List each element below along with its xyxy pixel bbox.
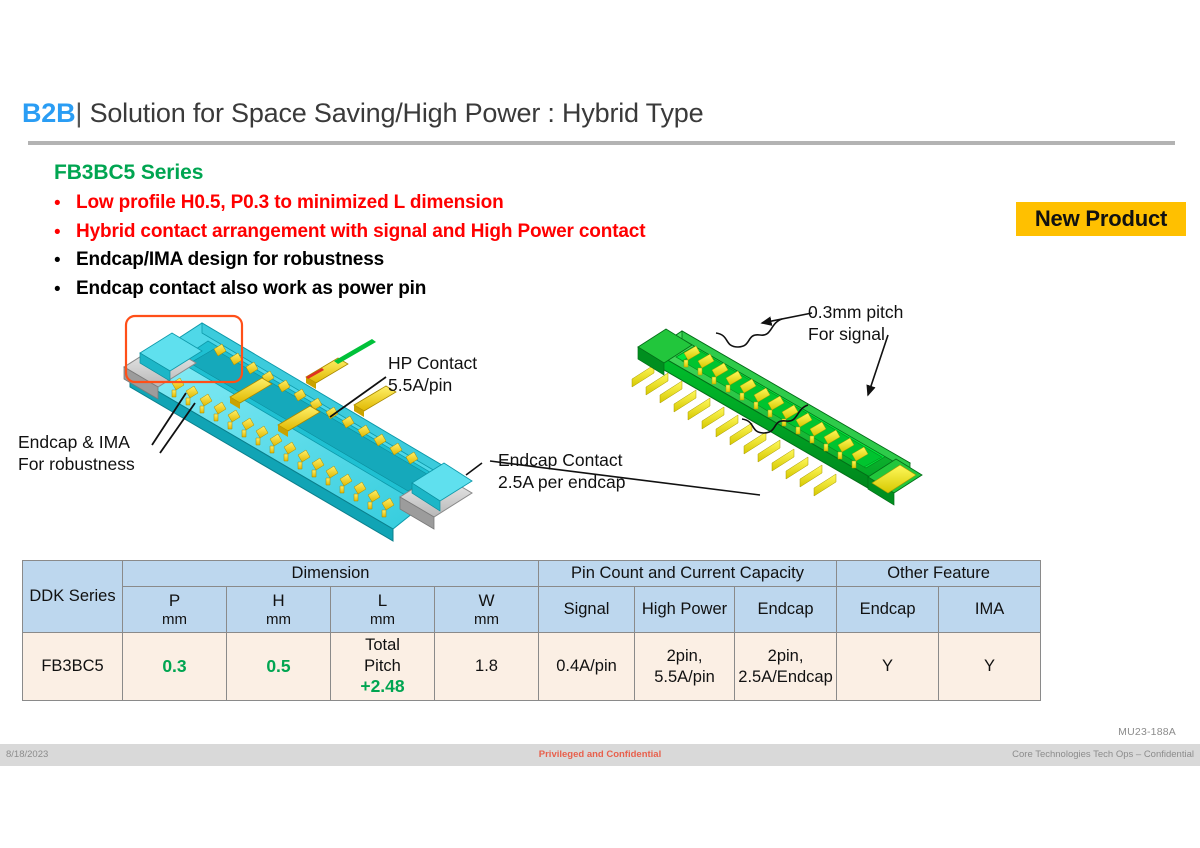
cell-w: 1.8 xyxy=(435,633,539,701)
callout-endcap-ima-line2: For robustness xyxy=(18,453,135,475)
callout-endcap-contact-line2: 2.5A per endcap xyxy=(498,471,625,493)
col-h: H mm xyxy=(227,587,331,633)
col-ddk-series: DDK Series xyxy=(23,561,123,633)
slide-header: B2B| Solution for Space Saving/High Powe… xyxy=(0,98,1200,146)
cell-signal: 0.4A/pin xyxy=(539,633,635,701)
cell-endcap-pin: 2pin, 2.5A/Endcap xyxy=(735,633,837,701)
leader-line-hp-contact xyxy=(330,377,386,417)
col-signal: Signal xyxy=(539,587,635,633)
series-block: FB3BC5 Series • Low profile H0.5, P0.3 t… xyxy=(54,160,874,306)
col-p: P mm xyxy=(123,587,227,633)
callout-hp-contact-line1: HP Contact xyxy=(388,352,477,374)
bullet-text: Hybrid contact arrangement with signal a… xyxy=(76,220,645,244)
table-sub-header-row: P mm H mm L mm W mm Signal High Power En… xyxy=(23,587,1041,633)
cell-series: FB3BC5 xyxy=(23,633,123,701)
callout-endcap-ima-line1: Endcap & IMA xyxy=(18,431,135,453)
cell-h: 0.5 xyxy=(227,633,331,701)
col-group-pin-count: Pin Count and Current Capacity xyxy=(539,561,837,587)
cell-ima: Y xyxy=(939,633,1041,701)
cell-l: Total Pitch+2.48 xyxy=(331,633,435,701)
bullet-marker-icon: • xyxy=(54,248,76,274)
bullet-marker-icon: • xyxy=(54,191,76,217)
document-code: MU23-188A xyxy=(1118,726,1176,738)
bullet-text: Low profile H0.5, P0.3 to minimized L di… xyxy=(76,191,504,215)
leader-line-hp xyxy=(152,393,186,445)
col-endcap-pin: Endcap xyxy=(735,587,837,633)
leader-line-endcap-contact-left xyxy=(466,463,482,475)
header-divider xyxy=(28,141,1175,145)
page-title: B2B| Solution for Space Saving/High Powe… xyxy=(22,98,703,129)
callout-hp-contact: HP Contact 5.5A/pin xyxy=(388,352,477,397)
callout-signal-pitch: 0.3mm pitch For signal xyxy=(808,301,903,346)
callout-endcap-ima: Endcap & IMA For robustness xyxy=(18,431,135,476)
col-l: L mm xyxy=(331,587,435,633)
callout-hp-contact-line2: 5.5A/pin xyxy=(388,374,477,396)
callout-signal-pitch-line1: 0.3mm pitch xyxy=(808,301,903,323)
table-row: FB3BC5 0.3 0.5 Total Pitch+2.48 1.8 0.4A… xyxy=(23,633,1041,701)
figures-area: HP Contact 5.5A/pin Endcap & IMA For rob… xyxy=(0,285,1200,550)
leader-line-endcap-ima-2 xyxy=(160,403,195,453)
specification-table: DDK Series Dimension Pin Count and Curre… xyxy=(22,560,1041,701)
col-endcap-feature: Endcap xyxy=(837,587,939,633)
col-group-other-feature: Other Feature xyxy=(837,561,1041,587)
list-item: • Hybrid contact arrangement with signal… xyxy=(54,220,874,246)
new-product-badge: New Product xyxy=(1016,202,1186,236)
title-text: Solution for Space Saving/High Power : H… xyxy=(90,98,704,128)
title-separator: | xyxy=(75,98,82,128)
col-high-power: High Power xyxy=(635,587,735,633)
series-heading: FB3BC5 Series xyxy=(54,160,874,185)
bullet-marker-icon: • xyxy=(54,220,76,246)
callout-endcap-contact: Endcap Contact 2.5A per endcap xyxy=(498,449,625,494)
col-w: W mm xyxy=(435,587,539,633)
col-ima: IMA xyxy=(939,587,1041,633)
bullet-text: Endcap/IMA design for robustness xyxy=(76,248,384,272)
footer-org-notice: Core Technologies Tech Ops – Confidentia… xyxy=(1012,749,1194,760)
list-item: • Low profile H0.5, P0.3 to minimized L … xyxy=(54,191,874,217)
callout-endcap-contact-line1: Endcap Contact xyxy=(498,449,625,471)
col-group-dimension: Dimension xyxy=(123,561,539,587)
callout-signal-pitch-line2: For signal xyxy=(808,323,903,345)
cell-endcap-feature: Y xyxy=(837,633,939,701)
cell-high-power: 2pin, 5.5A/pin xyxy=(635,633,735,701)
table-group-header-row: DDK Series Dimension Pin Count and Curre… xyxy=(23,561,1041,587)
arrow-pitch-top xyxy=(762,313,812,323)
cell-p: 0.3 xyxy=(123,633,227,701)
list-item: • Endcap/IMA design for robustness xyxy=(54,248,874,274)
brand-label: B2B xyxy=(22,98,75,128)
